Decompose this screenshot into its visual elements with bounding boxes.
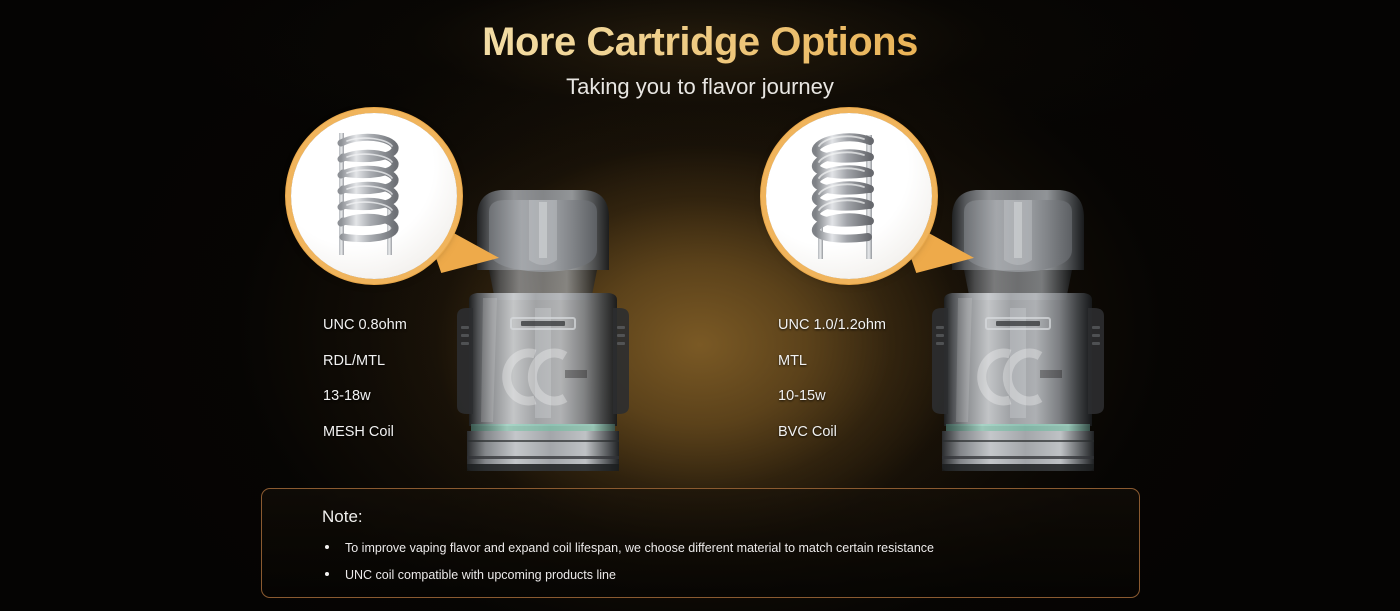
spec-style: MTL <box>778 354 886 369</box>
spec-style: RDL/MTL <box>323 354 407 369</box>
spec-resistance: UNC 0.8ohm <box>323 318 407 333</box>
cartridge-image-mesh <box>443 178 643 478</box>
banner-header: More Cartridge Options Taking you to fla… <box>0 0 1400 100</box>
spec-resistance: UNC 1.0/1.2ohm <box>778 318 886 333</box>
page-subtitle: Taking you to flavor journey <box>0 74 1400 100</box>
mesh-coil-magnifier <box>291 113 457 279</box>
spec-wattage: 10-15w <box>778 389 886 404</box>
cartridge-image-bvc <box>918 178 1118 478</box>
spec-list-bvc: UNC 1.0/1.2ohm MTL 10-15w BVC Coil <box>778 318 886 439</box>
page-title: More Cartridge Options <box>0 20 1400 65</box>
note-box: Note: To improve vaping flavor and expan… <box>261 488 1140 598</box>
note-title: Note: <box>322 507 363 527</box>
bvc-coil-magnifier <box>766 113 932 279</box>
note-list-item: UNC coil compatible with upcoming produc… <box>320 568 1109 583</box>
spec-coil: BVC Coil <box>778 425 886 440</box>
spec-wattage: 13-18w <box>323 389 407 404</box>
note-list-item: To improve vaping flavor and expand coil… <box>320 541 1109 556</box>
spec-coil: MESH Coil <box>323 425 407 440</box>
bvc-coil-icon <box>766 113 932 279</box>
note-list: To improve vaping flavor and expand coil… <box>320 541 1109 583</box>
promo-banner: More Cartridge Options Taking you to fla… <box>0 0 1400 611</box>
spec-list-mesh: UNC 0.8ohm RDL/MTL 13-18w MESH Coil <box>323 318 407 439</box>
mesh-coil-icon <box>291 113 457 279</box>
